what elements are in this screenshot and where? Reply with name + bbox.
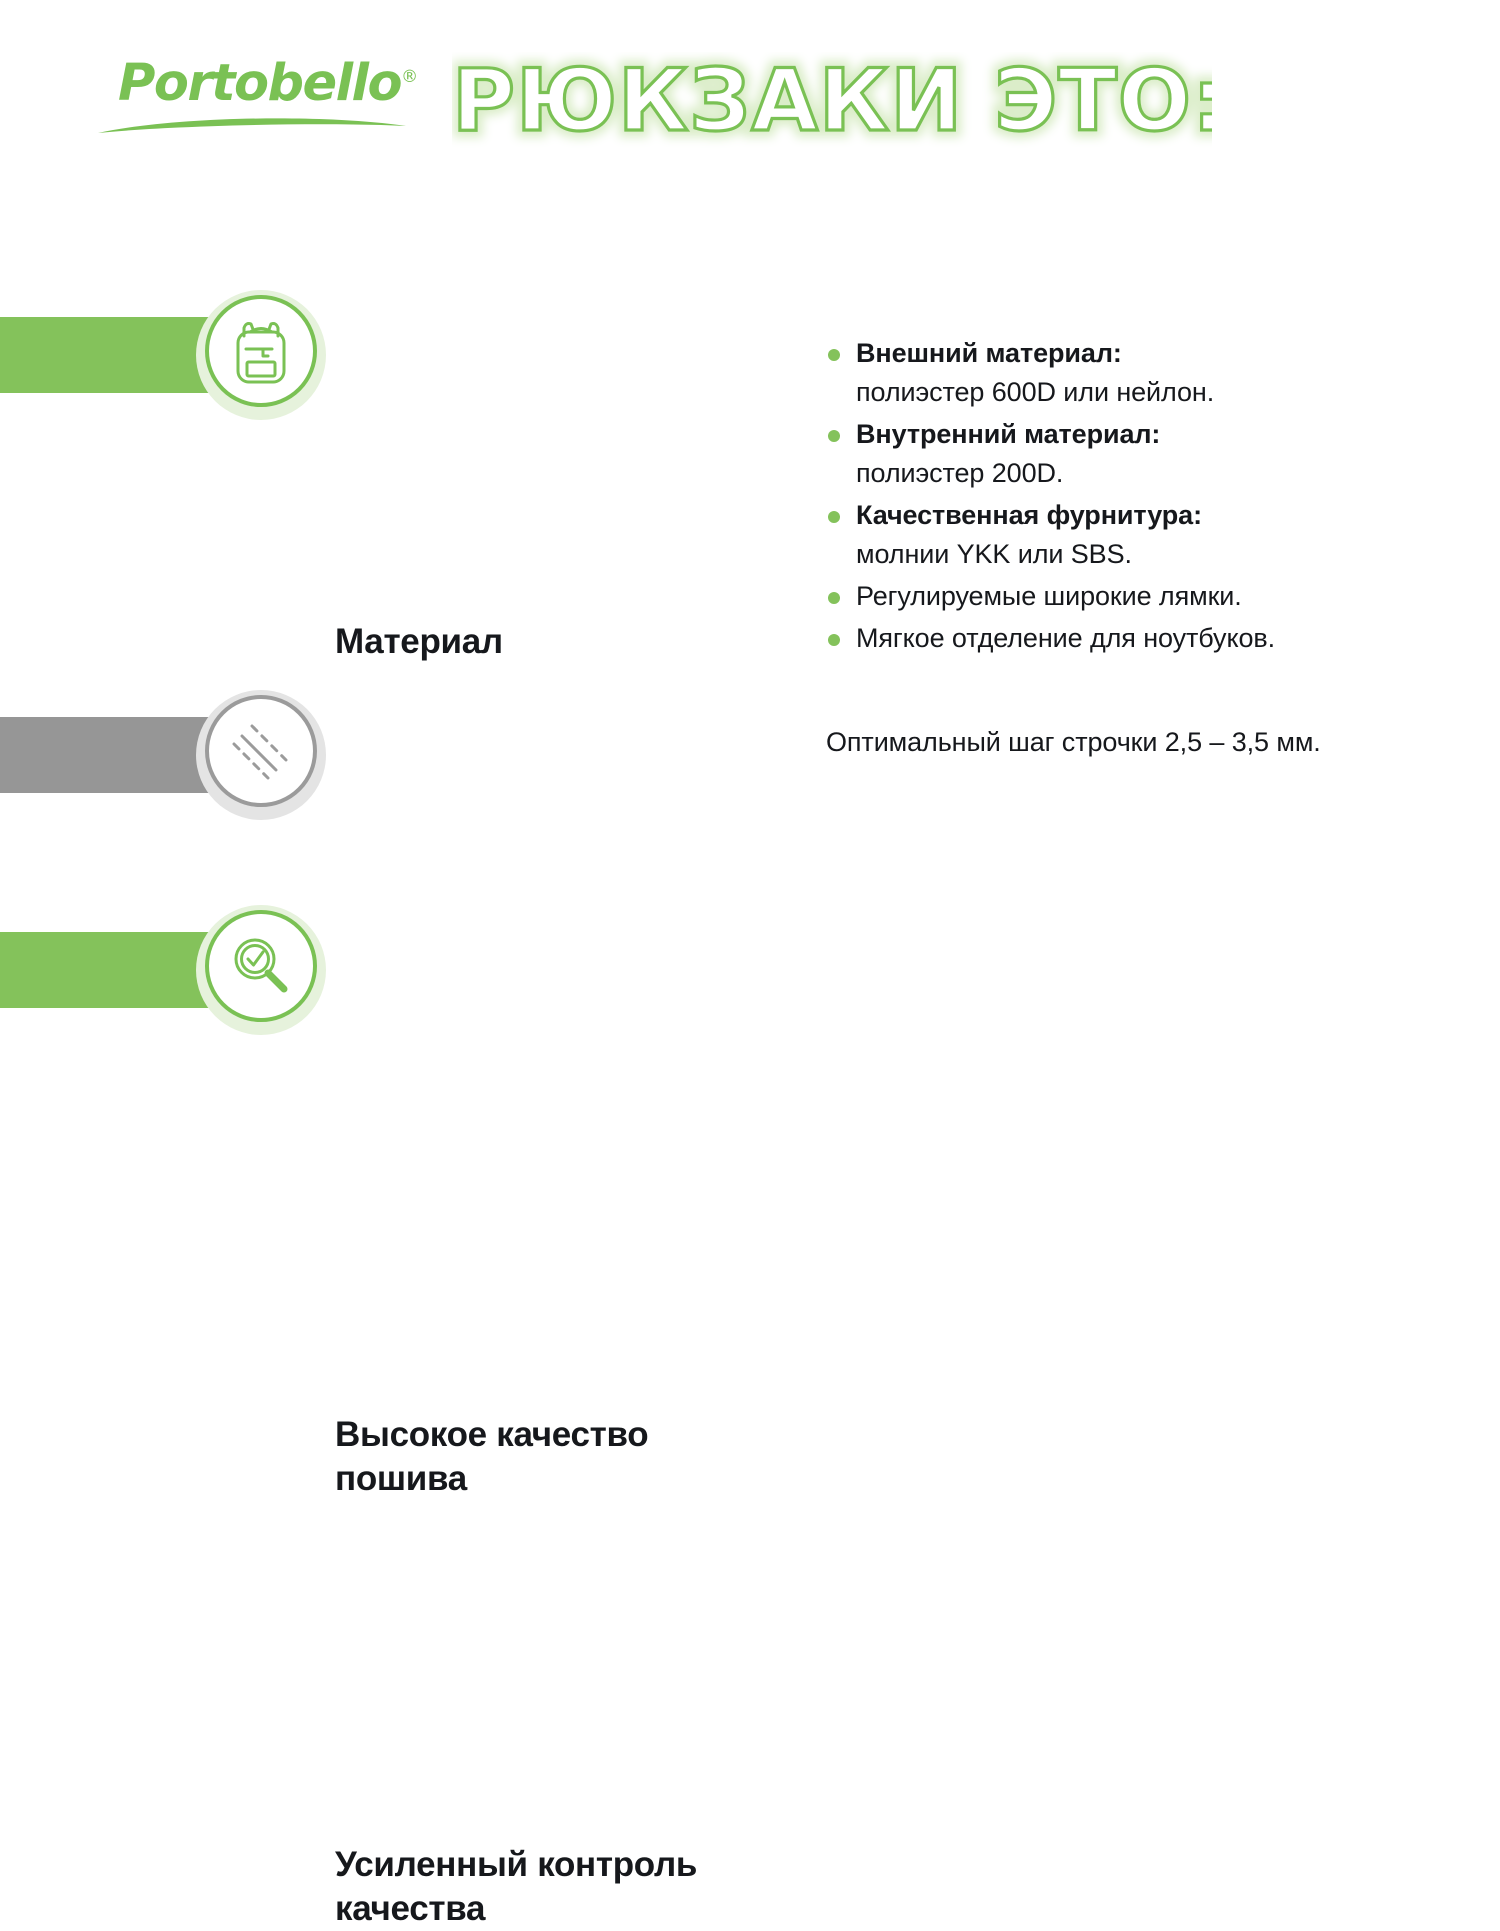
list-item-title: Внутренний материал: [856,415,1466,454]
page-header: Portobello® РЮКЗАКИ ЭТО: РЮКЗАКИ ЭТО: [0,0,1500,200]
list-item: Мягкое отделение для ноутбуков. [826,619,1466,658]
bullet-dot-icon [828,349,840,361]
list-item-text: молнии YKK или SBS. [856,535,1466,574]
bullet-dot-icon [828,511,840,523]
list-item: Внешний материал:полиэстер 600D или нейл… [826,334,1466,412]
brand-logo-text: Portobello® [118,58,418,109]
list-item: Регулируемые широкие лямки. [826,577,1466,616]
registered-trademark-icon: ® [401,67,417,87]
feature-icon-circle [205,295,317,407]
magnifier-check-icon [228,933,294,999]
bullet-dot-icon [828,592,840,604]
feature-label: Высокое качество пошива [335,1413,648,1501]
bullet-dot-icon [828,430,840,442]
list-item: Качественная фурнитура:молнии YKK или SB… [826,496,1466,574]
stitch-pitch-note: Оптимальный шаг строчки 2,5 – 3,5 мм. [826,723,1466,761]
list-item-text: полиэстер 200D. [856,454,1466,493]
backpack-icon [230,316,292,386]
feature-icon-circle [205,910,317,1022]
material-bullet-list: Внешний материал:полиэстер 600D или нейл… [826,334,1466,661]
svg-text:РЮКЗАКИ ЭТО:: РЮКЗАКИ ЭТО: [452,52,1212,151]
feature-icon-circle [205,695,317,807]
feature-label: Материал [335,620,503,664]
list-item-text: Регулируемые широкие лямки. [856,577,1466,616]
list-item-title: Внешний материал: [856,334,1466,373]
brand-logo: Portobello® [118,58,418,148]
page-title: РЮКЗАКИ ЭТО: РЮКЗАКИ ЭТО: [452,52,1212,152]
list-item-title: Качественная фурнитура: [856,496,1466,535]
brand-name: Portobello [118,54,401,113]
bullet-dot-icon [828,634,840,646]
stitching-icon [228,718,294,784]
page-title-artwork: РЮКЗАКИ ЭТО: РЮКЗАКИ ЭТО: [452,52,1212,152]
feature-label: Усиленный контроль качества [335,1843,697,1931]
list-item-text: полиэстер 600D или нейлон. [856,373,1466,412]
brand-swoosh-icon [96,114,408,136]
list-item-text: Мягкое отделение для ноутбуков. [856,619,1466,658]
list-item: Внутренний материал:полиэстер 200D. [826,415,1466,493]
